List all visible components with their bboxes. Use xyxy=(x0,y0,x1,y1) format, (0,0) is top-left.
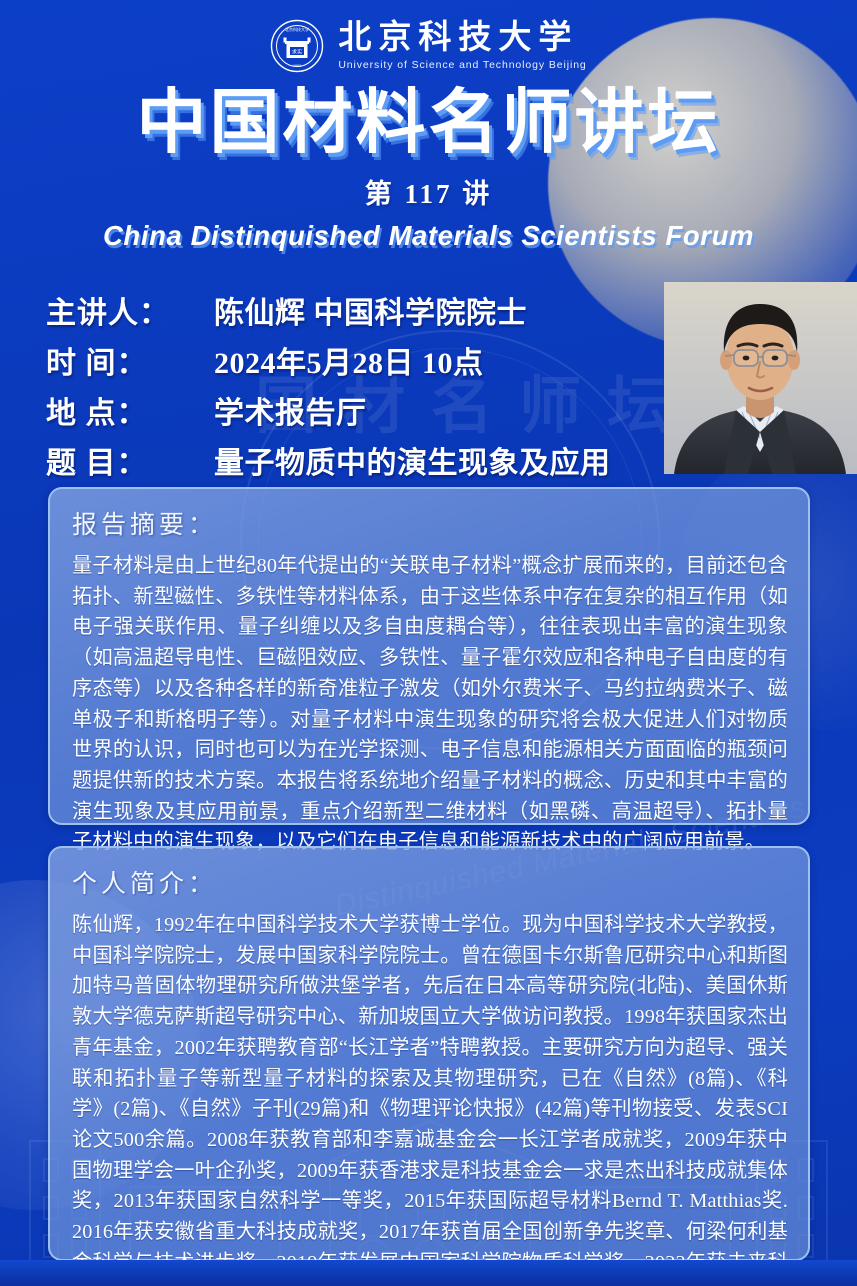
info-label-time: 时 间： xyxy=(46,338,214,382)
university-name-block: 北京科技大学 University of Science and Technol… xyxy=(338,21,586,71)
abstract-body: 量子材料是由上世纪80年代提出的“关联电子材料”概念扩展而来的，目前还包含拓扑、… xyxy=(72,551,788,858)
abstract-title: 报告摘要： xyxy=(72,505,788,541)
info-row-time: 时 间： 2024年5月28日 10点 xyxy=(46,338,656,382)
abstract-panel: 报告摘要： 量子材料是由上世纪80年代提出的“关联电子材料”概念扩展而来的，目前… xyxy=(48,487,810,825)
profile-title: 个人简介： xyxy=(72,864,788,900)
university-name-cn: 北京科技大学 xyxy=(338,21,586,56)
forum-issue-number: 第 117 讲 xyxy=(0,172,857,211)
bottom-band xyxy=(0,1260,857,1286)
info-value-location: 学术报告厅 xyxy=(214,388,367,432)
info-row-topic: 题 目： 量子物质中的演生现象及应用 xyxy=(46,438,656,482)
info-label-location: 地 点： xyxy=(46,388,214,432)
info-label-topic: 题 目： xyxy=(46,438,214,482)
title-block: 中国材料名师讲坛 第 117 讲 China Distinquished Mat… xyxy=(0,86,857,252)
info-row-location: 地 点： 学术报告厅 xyxy=(46,388,656,432)
university-logo-row: 求实 北京科技大学 1952 北京科技大学 University of Scie… xyxy=(0,0,857,72)
info-value-time: 2024年5月28日 10点 xyxy=(214,338,484,382)
poster-root: 国材名师坛 Distinquished Materials Scientists xyxy=(0,0,857,1286)
forum-title-en: China Distinquished Materials Scientists… xyxy=(0,220,857,252)
svg-text:求实: 求实 xyxy=(292,48,302,56)
info-value-topic: 量子物质中的演生现象及应用 xyxy=(214,438,611,482)
forum-title-cn: 中国材料名师讲坛 xyxy=(0,86,857,162)
info-value-speaker: 陈仙辉 中国科学院院士 xyxy=(214,288,527,332)
profile-body: 陈仙辉，1992年在中国科学技术大学获博士学位。现为中国科学技术大学教授，中国科… xyxy=(72,910,788,1286)
lecture-info-block: 主讲人： 陈仙辉 中国科学院院士 时 间： 2024年5月28日 10点 地 点… xyxy=(46,288,656,488)
university-name-en: University of Science and Technology Bei… xyxy=(338,59,586,71)
speaker-portrait xyxy=(664,282,857,474)
svg-text:1952: 1952 xyxy=(293,64,301,68)
ustb-seal-icon: 求实 北京科技大学 1952 xyxy=(270,19,324,73)
info-label-speaker: 主讲人： xyxy=(46,288,214,332)
profile-panel: 个人简介： 陈仙辉，1992年在中国科学技术大学获博士学位。现为中国科学技术大学… xyxy=(48,846,810,1261)
info-row-speaker: 主讲人： 陈仙辉 中国科学院院士 xyxy=(46,288,656,332)
svg-text:北京科技大学: 北京科技大学 xyxy=(285,26,309,32)
